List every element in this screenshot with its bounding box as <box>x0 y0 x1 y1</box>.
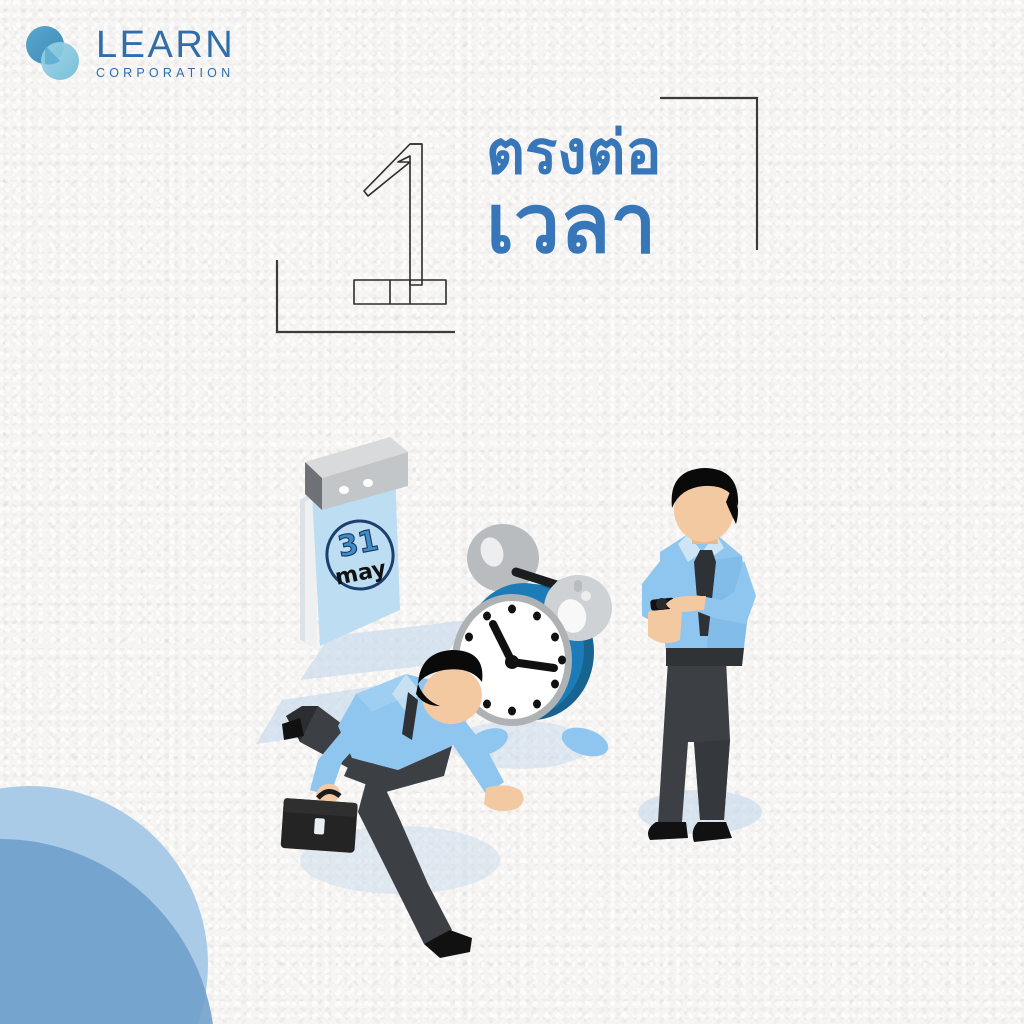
businessman-checking-watch <box>642 468 756 842</box>
calendar-illustration: 31 may <box>300 437 408 648</box>
headline-line-2: เวลา <box>486 187 662 262</box>
brand-name: LEARN <box>96 26 235 64</box>
headline-line-1: ตรงต่อ <box>486 126 662 181</box>
headline-text: ตรงต่อ เวลา <box>486 126 662 263</box>
brand-logo-text: LEARN CORPORATION <box>96 26 235 80</box>
learn-logo-icon <box>22 22 84 84</box>
brand-logo[interactable]: LEARN CORPORATION <box>22 22 235 84</box>
numeral-one-wireframe <box>340 128 480 318</box>
poster-canvas: LEARN CORPORATION ตรงต่อ เวลา <box>0 0 1024 1024</box>
brand-subtitle: CORPORATION <box>96 67 235 80</box>
